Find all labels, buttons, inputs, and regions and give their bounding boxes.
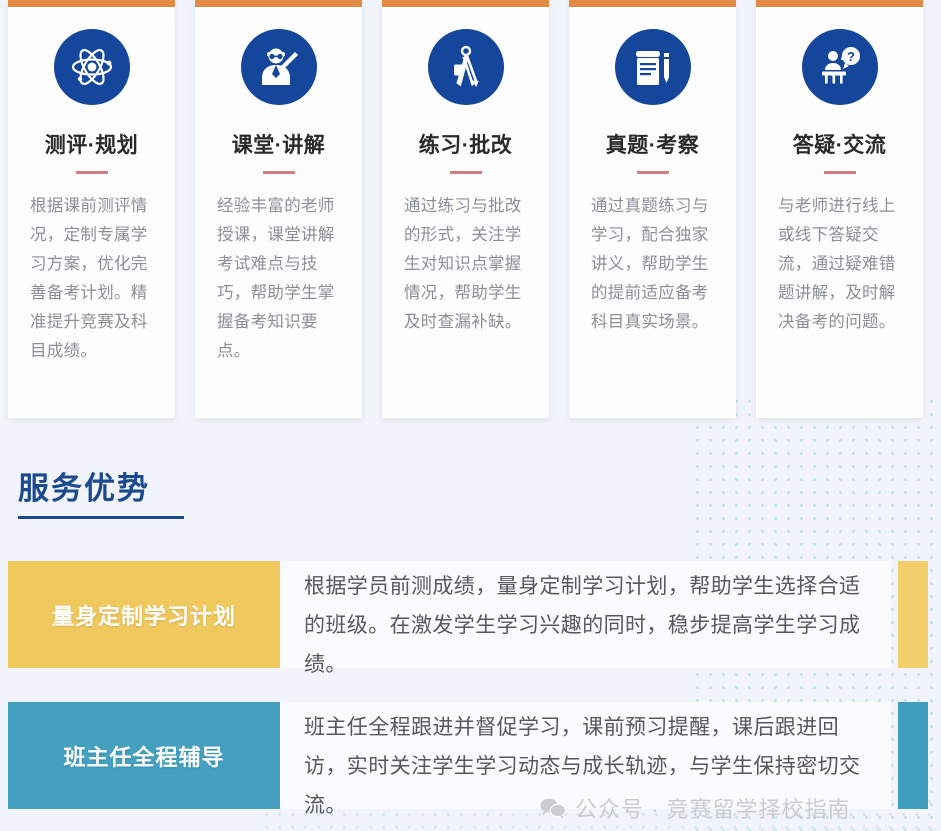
teacher-pointer-icon	[241, 29, 317, 105]
section-heading-underline	[18, 516, 184, 519]
advantage-accent-strip	[898, 702, 928, 809]
card-divider	[76, 171, 108, 174]
card-divider	[450, 171, 482, 174]
feature-card-row: 测评·规划 根据课前测评情况，定制专属学习方案，优化完善备考计划。精准提升竞赛及…	[0, 0, 941, 418]
watermark-text: 公众号 · 竞赛留学择校指南	[575, 792, 851, 824]
feature-card[interactable]: 测评·规划 根据课前测评情况，定制专属学习方案，优化完善备考计划。精准提升竞赛及…	[8, 0, 175, 418]
card-title: 课堂·讲解	[232, 129, 326, 159]
card-divider	[263, 171, 295, 174]
card-title: 测评·规划	[45, 129, 139, 159]
card-description: 通过练习与批改的形式，关注学生对知识点掌握情况，帮助学生及时查漏补缺。	[404, 192, 527, 337]
feature-card[interactable]: 课堂·讲解 经验丰富的老师授课，课堂讲解考试难点与技巧，帮助学生掌握备考知识要点…	[195, 0, 362, 418]
exam-paper-pencil-icon	[615, 29, 691, 105]
feature-card[interactable]: 真题·考察 通过真题练习与学习，配合独家讲义，帮助学生的提前适应备考科目真实场景…	[569, 0, 736, 418]
advantage-accent-strip	[898, 561, 928, 668]
advantage-label: 班主任全程辅导	[8, 702, 280, 809]
watermark: 公众号 · 竞赛留学择校指南	[540, 792, 851, 824]
card-divider	[637, 171, 669, 174]
card-title: 答疑·交流	[793, 129, 887, 159]
wechat-icon	[540, 797, 566, 819]
feature-card[interactable]: ? 答疑·交流 与老师进行线上或线下答疑交流，通过疑难错题讲解，及时解决备考的问…	[756, 0, 923, 418]
card-description: 根据课前测评情况，定制专属学习方案，优化完善备考计划。精准提升竞赛及科目成绩。	[30, 192, 153, 366]
advantage-label: 量身定制学习计划	[8, 561, 280, 668]
card-title: 真题·考察	[606, 129, 700, 159]
card-divider	[824, 171, 856, 174]
card-description: 与老师进行线上或线下答疑交流，通过疑难错题讲解，及时解决备考的问题。	[778, 192, 901, 337]
card-description: 通过真题练习与学习，配合独家讲义，帮助学生的提前适应备考科目真实场景。	[591, 192, 714, 337]
advantage-row: 量身定制学习计划 根据学员前测成绩，量身定制学习计划，帮助学生选择合适的班级。在…	[8, 561, 891, 668]
svg-text:?: ?	[847, 49, 855, 64]
atom-icon	[54, 29, 130, 105]
student-question-icon: ?	[802, 29, 878, 105]
card-description: 经验丰富的老师授课，课堂讲解考试难点与技巧，帮助学生掌握备考知识要点。	[217, 192, 340, 366]
advantage-text: 根据学员前测成绩，量身定制学习计划，帮助学生选择合适的班级。在激发学生学习兴趣的…	[280, 561, 891, 668]
compass-divider-icon	[428, 29, 504, 105]
feature-card[interactable]: 练习·批改 通过练习与批改的形式，关注学生对知识点掌握情况，帮助学生及时查漏补缺…	[382, 0, 549, 418]
section-heading: 服务优势	[18, 463, 150, 517]
card-title: 练习·批改	[419, 129, 513, 159]
